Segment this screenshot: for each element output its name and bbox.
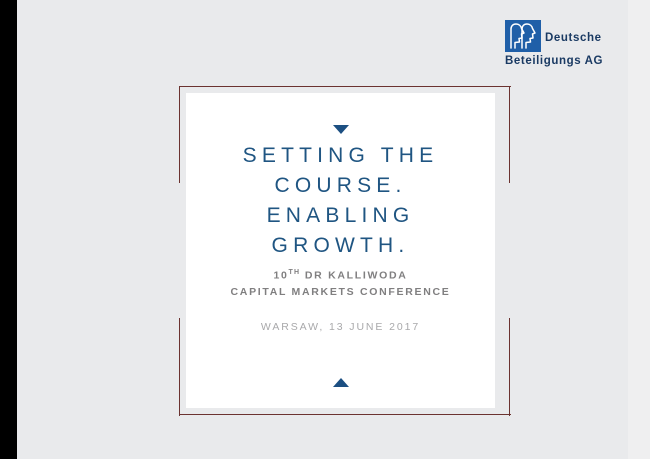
triangle-down-icon bbox=[186, 121, 495, 131]
conference-ordinal: 10 bbox=[273, 270, 288, 282]
frame-border-top bbox=[179, 86, 511, 87]
conference-ordinal-suffix: TH bbox=[289, 269, 301, 276]
presentation-slide: Deutsche Beteiligungs AG SETTING THE bbox=[17, 0, 628, 459]
screenshot-viewport: Deutsche Beteiligungs AG SETTING THE bbox=[0, 0, 650, 459]
frame-border-bottom bbox=[179, 414, 511, 415]
conference-name-line-2: CAPITAL MARKETS CONFERENCE bbox=[194, 284, 487, 300]
deutsche-beteiligungs-profiles-icon bbox=[505, 20, 541, 52]
frame-border-right-upper bbox=[509, 86, 510, 183]
slide-outer-area: Deutsche Beteiligungs AG SETTING THE bbox=[17, 0, 650, 459]
event-location-date: WARSAW, 13 JUNE 2017 bbox=[194, 321, 487, 333]
conference-name: 10TH DR KALLIWODA CAPITAL MARKETS CONFER… bbox=[194, 265, 487, 300]
company-logo: Deutsche Beteiligungs AG bbox=[505, 20, 617, 70]
page-title: SETTING THE COURSE. ENABLING GROWTH. bbox=[196, 141, 485, 261]
logo-text-line-2: Beteiligungs AG bbox=[505, 54, 603, 69]
title-card-content: SETTING THE COURSE. ENABLING GROWTH. 10T… bbox=[186, 93, 495, 408]
frame-border-right-lower bbox=[509, 318, 510, 416]
title-card: SETTING THE COURSE. ENABLING GROWTH. 10T… bbox=[186, 93, 495, 408]
conference-name-rest: DR KALLIWODA bbox=[300, 270, 407, 282]
triangle-up-icon bbox=[186, 374, 495, 384]
logo-text-line-1: Deutsche bbox=[545, 31, 602, 46]
frame-border-left-lower bbox=[179, 318, 180, 416]
frame-border-left-upper bbox=[179, 86, 180, 183]
